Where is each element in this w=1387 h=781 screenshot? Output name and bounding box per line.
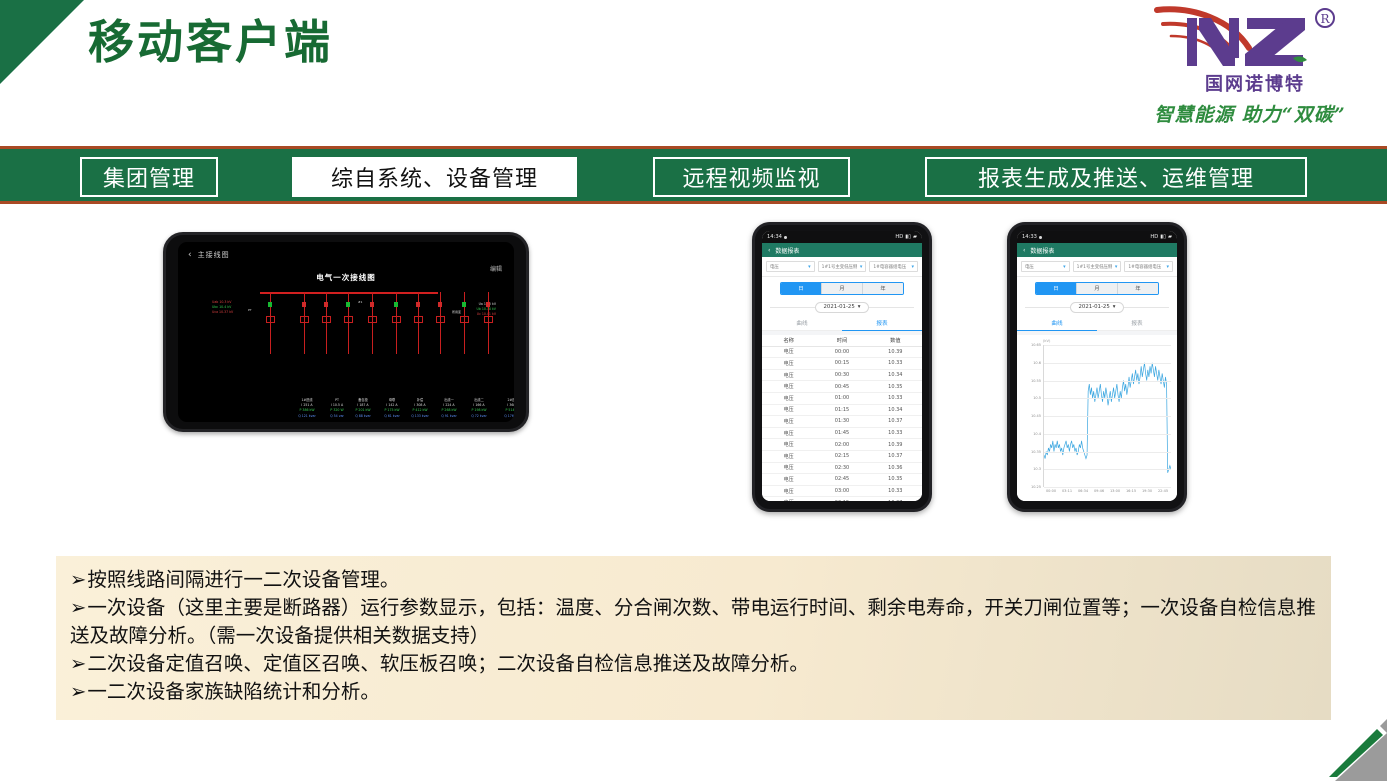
table-row[interactable]: 电压00:1510.33 <box>762 358 922 370</box>
filter-select-metric[interactable]: 电压 ▾ <box>1021 261 1070 272</box>
status-dot-icon <box>784 236 787 239</box>
chart-plot-area <box>1043 345 1171 487</box>
status-time: 14:34 <box>767 234 782 240</box>
grid-line <box>1044 416 1171 417</box>
cell-value: 10.34 <box>869 407 922 413</box>
bay-column: 补偿 I 308 A P 412 kW Q 133 kvar <box>408 398 432 419</box>
filter-select-station[interactable]: 1#1号主变低压侧 ▾ <box>818 261 867 272</box>
bullet-marker-icon: ➢ <box>70 568 86 591</box>
bay-value-q: Q 91 kvar <box>436 414 462 419</box>
logo-mark-icon: R <box>1153 4 1353 76</box>
tablet-device: ‹ 主接线图 编辑 电气一次接线图 Uab 10.3 kV Ubc 10.4 k… <box>163 232 529 432</box>
filter-row: 电压 ▾ 1#1号主变低压侧 ▾ 1#电容器组电压 ▾ <box>762 257 922 277</box>
phone-device-report-table: 14:34 HD ▮▯ ▰ ‹ 数据报表 电压 ▾ <box>752 222 932 512</box>
table-row[interactable]: 电压00:0010.39 <box>762 347 922 359</box>
status-network-label: HD <box>895 234 903 240</box>
table-row[interactable]: 电压02:4510.35 <box>762 474 922 486</box>
period-segmented-control: 日 月 年 <box>1035 282 1159 295</box>
cell-name: 电压 <box>762 372 815 379</box>
bay-value-q: Q 133 kvar <box>408 414 432 419</box>
transformer-symbol <box>322 316 331 323</box>
bay-value-q: Q 72 kvar <box>466 414 492 419</box>
transformer-symbol <box>392 316 401 323</box>
segment-year[interactable]: 年 <box>863 283 903 294</box>
filter-select-point[interactable]: 1#电容器组电压 ▾ <box>869 261 918 272</box>
cell-value: 10.39 <box>869 442 922 448</box>
x-axis-tick-label: 03:11 <box>1062 489 1072 493</box>
bullet-marker-icon: ➢ <box>70 596 86 619</box>
cell-name: 电压 <box>762 488 815 495</box>
phone-screen-chart: 14:33 HD ▮▯ ▰ ‹ 数据报表 电压 ▾ <box>1017 231 1177 501</box>
table-row[interactable]: 电压01:3010.37 <box>762 416 922 428</box>
busbar-line <box>260 292 438 294</box>
view-tabs: 曲线 报表 <box>762 315 922 331</box>
cell-value: 10.37 <box>869 418 922 424</box>
filter-select-point[interactable]: 1#电容器组电压 ▾ <box>1124 261 1173 272</box>
segment-year[interactable]: 年 <box>1118 283 1158 294</box>
breaker-open-indicator <box>416 302 420 307</box>
table-row[interactable]: 电压00:4510.35 <box>762 381 922 393</box>
grid-line <box>1044 381 1171 382</box>
breaker-closed-indicator <box>462 302 466 307</box>
table-row[interactable]: 电压01:4510.33 <box>762 428 922 440</box>
column-header-value: 数值 <box>869 337 922 344</box>
filter-select-station[interactable]: 1#1号主变低压侧 ▾ <box>1073 261 1122 272</box>
chevron-down-icon: ▾ <box>912 264 915 270</box>
period-segmented-control: 日 月 年 <box>780 282 904 295</box>
grid-line <box>1044 345 1171 346</box>
table-row[interactable]: 电压03:1510.37 <box>762 497 922 501</box>
chevron-down-icon: ▾ <box>1063 264 1066 270</box>
bay-tag: #1 <box>358 300 362 304</box>
segment-month[interactable]: 月 <box>1077 283 1118 294</box>
chevron-down-icon: ▾ <box>808 264 811 270</box>
view-tabs: 曲线 报表 <box>1017 315 1177 331</box>
cell-value: 10.34 <box>869 372 922 378</box>
nav-item-group-management[interactable]: 集团管理 <box>80 157 218 197</box>
cell-value: 10.37 <box>869 500 922 501</box>
date-row: 2021-01-25 ▾ <box>762 299 922 315</box>
cell-time: 02:45 <box>815 476 868 482</box>
bay-value-q: Q 54 var <box>326 414 348 419</box>
grid-line <box>1044 469 1171 470</box>
voltage-trend-chart[interactable]: (kV) 10.2510.310.3510.410.4510.510.5510.… <box>1017 335 1177 501</box>
filter-label: 1#电容器组电压 <box>873 264 906 270</box>
cell-name: 电压 <box>762 360 815 367</box>
bullet-text-4: 一二次设备家族缺陷统计和分析。 <box>87 680 380 703</box>
corner-stripe-decoration <box>1301 719 1387 781</box>
x-axis-tick-label: 13:00 <box>1110 489 1120 493</box>
table-row[interactable]: 电压03:0010.33 <box>762 486 922 498</box>
app-bar: ‹ 数据报表 <box>1017 243 1177 257</box>
y-axis-tick-label: 10.4 <box>1033 432 1041 436</box>
table-row[interactable]: 电压02:0010.39 <box>762 439 922 451</box>
bullet-text-2: 一次设备（这里主要是断路器）运行参数显示，包括：温度、分合闸次数、带电运行时间、… <box>70 596 1316 647</box>
x-axis-tick-label: 09:46 <box>1094 489 1104 493</box>
cell-time: 03:00 <box>815 488 868 494</box>
cell-time: 00:00 <box>815 349 868 355</box>
x-axis-tick-label: 00:00 <box>1046 489 1056 493</box>
date-value: 2021-01-25 <box>1078 304 1109 310</box>
cell-name: 电压 <box>762 499 815 501</box>
chevron-left-icon: ‹ <box>188 250 193 260</box>
transformer-symbol <box>300 316 309 323</box>
bullet-marker-icon: ➢ <box>70 680 86 703</box>
signal-icon: ▮▯ <box>1160 234 1166 240</box>
cell-name: 电压 <box>762 418 815 425</box>
period-segment-wrap: 日 月 年 <box>1017 277 1177 299</box>
nav-band: 集团管理 综自系统、设备管理 远程视频监视 报表生成及推送、运维管理 <box>0 146 1387 204</box>
transformer-symbol <box>436 316 445 323</box>
y-axis-tick-label: 10.25 <box>1031 485 1041 489</box>
single-line-diagram: Uab 10.3 kV Ubc 10.4 kV Uca 10.37 kV Ua … <box>212 286 496 366</box>
battery-icon: ▰ <box>1168 234 1172 240</box>
nav-item-remote-video[interactable]: 远程视频监视 <box>653 157 850 197</box>
signal-icon: ▮▯ <box>905 234 911 240</box>
y-axis-tick-label: 10.6 <box>1033 361 1041 365</box>
tablet-back-label: 主接线图 <box>198 250 230 260</box>
data-table[interactable]: 名称 时间 数值 电压00:0010.39电压00:1510.33电压00:30… <box>762 335 922 501</box>
breaker-open-indicator <box>486 302 490 307</box>
table-row[interactable]: 电压01:0010.33 <box>762 393 922 405</box>
chevron-down-icon: ▾ <box>860 264 863 270</box>
table-header-row: 名称 时间 数值 <box>762 335 922 347</box>
bay-tag: 所用变 <box>452 310 461 314</box>
y-axis-tick-label: 10.3 <box>1033 467 1041 471</box>
grid-line <box>1044 452 1171 453</box>
bullet-line-4: ➢一二次设备家族缺陷统计和分析。 <box>70 678 1317 706</box>
x-axis-ticks: 00:0003:1106:3409:4613:0016:1519:3022:45 <box>1043 487 1171 499</box>
chart-unit-label: (kV) <box>1043 339 1050 343</box>
cell-name: 电压 <box>762 383 815 390</box>
cell-value: 10.35 <box>869 476 922 482</box>
cell-name: 电压 <box>762 406 815 413</box>
breaker-closed-indicator <box>268 302 272 307</box>
cell-value: 10.33 <box>869 488 922 494</box>
transformer-symbol <box>414 316 423 323</box>
bay-column: 出线二 I 166 A P 198 kW Q 72 kvar <box>466 398 492 419</box>
phone-screen-table: 14:34 HD ▮▯ ▰ ‹ 数据报表 电压 ▾ <box>762 231 922 501</box>
filter-select-metric[interactable]: 电压 ▾ <box>766 261 815 272</box>
cell-value: 10.37 <box>869 453 922 459</box>
bay-column: 1#进线 I 251 A P 386 kW Q 121 kvar <box>292 398 322 419</box>
breaker-open-indicator <box>302 302 306 307</box>
breaker-open-indicator <box>438 302 442 307</box>
cell-value: 10.36 <box>869 465 922 471</box>
period-segment-wrap: 日 月 年 <box>762 277 922 299</box>
bay-value-q: Q 88 kvar <box>350 414 376 419</box>
x-axis-tick-label: 06:34 <box>1078 489 1088 493</box>
status-dot-icon <box>1039 236 1042 239</box>
breaker-open-indicator <box>370 302 374 307</box>
cell-value: 10.33 <box>869 430 922 436</box>
chevron-left-icon[interactable]: ‹ <box>1023 247 1025 254</box>
bay-column: 2#进线 I 368 A P 514 kW Q 176 kvar <box>498 398 514 419</box>
cell-time: 01:30 <box>815 418 868 424</box>
transformer-symbol <box>266 316 275 323</box>
grid-line <box>1044 398 1171 399</box>
status-bar: 14:33 HD ▮▯ ▰ <box>1017 231 1177 243</box>
cell-value: 10.39 <box>869 349 922 355</box>
phone-device-report-chart: 14:33 HD ▮▯ ▰ ‹ 数据报表 电压 ▾ <box>1007 222 1187 512</box>
measurement-uca: Uca 10.37 kV <box>212 310 233 315</box>
cell-name: 电压 <box>762 476 815 483</box>
bay-column: PT I 10.5 A P 320 W Q 54 var <box>326 398 348 419</box>
cell-name: 电压 <box>762 464 815 471</box>
app-bar-title: 数据报表 <box>775 246 799 255</box>
bay-tag: PT <box>248 308 252 312</box>
status-bar: 14:34 HD ▮▯ ▰ <box>762 231 922 243</box>
cell-name: 电压 <box>762 441 815 448</box>
nav-item-system-device-management[interactable]: 综自系统、设备管理 <box>292 157 577 197</box>
table-row[interactable]: 电压02:3010.36 <box>762 463 922 475</box>
cell-time: 01:00 <box>815 395 868 401</box>
filter-label: 1#1号主变低压侧 <box>1077 264 1113 270</box>
cell-time: 02:30 <box>815 465 868 471</box>
column-header-time: 时间 <box>815 337 868 344</box>
app-bar: ‹ 数据报表 <box>762 243 922 257</box>
slide-root: 移动客户端 R 国网诺博特 智慧能源 助力“双碳” 集团管理 <box>0 0 1387 781</box>
device-gallery: ‹ 主接线图 编辑 电气一次接线图 Uab 10.3 kV Ubc 10.4 k… <box>0 206 1387 536</box>
tablet-back-control[interactable]: ‹ 主接线图 <box>188 250 230 260</box>
tab-curve[interactable]: 曲线 <box>1017 315 1097 331</box>
bullet-text-1: 按照线路间隔进行一二次设备管理。 <box>87 568 399 591</box>
cell-time: 00:45 <box>815 384 868 390</box>
bay-column: 母联 I 142 A P 175 kW Q 61 kvar <box>380 398 404 419</box>
tab-report[interactable]: 报表 <box>842 315 922 331</box>
table-row[interactable]: 电压00:3010.34 <box>762 370 922 382</box>
left-measurement-block: Uab 10.3 kV Ubc 10.4 kV Uca 10.37 kV <box>212 300 233 315</box>
grid-line <box>1044 363 1171 364</box>
y-axis-tick-label: 10.45 <box>1031 414 1041 418</box>
filter-label: 1#电容器组电压 <box>1128 264 1161 270</box>
segment-day[interactable]: 日 <box>1036 283 1077 294</box>
segment-month[interactable]: 月 <box>822 283 863 294</box>
chevron-down-icon: ▾ <box>1113 304 1116 310</box>
nav-item-report-ops[interactable]: 报表生成及推送、运维管理 <box>925 157 1307 197</box>
grid-line <box>1044 434 1171 435</box>
cell-time: 00:30 <box>815 372 868 378</box>
y-axis-tick-label: 10.65 <box>1031 343 1041 347</box>
column-header-name: 名称 <box>762 337 815 344</box>
battery-icon: ▰ <box>913 234 917 240</box>
breaker-open-indicator <box>324 302 328 307</box>
breaker-closed-indicator <box>346 302 350 307</box>
logo-slogan: 智慧能源 助力“双碳” <box>1125 100 1375 127</box>
y-axis-ticks: 10.2510.310.3510.410.4510.510.5510.610.6… <box>1021 345 1043 487</box>
company-logo: R 国网诺博特 智慧能源 助力“双碳” <box>1125 4 1375 132</box>
y-axis-tick-label: 10.35 <box>1031 450 1041 454</box>
table-row[interactable]: 电压02:1510.37 <box>762 451 922 463</box>
filter-label: 电压 <box>1025 264 1034 270</box>
bullet-marker-icon: ➢ <box>70 652 86 675</box>
cell-name: 电压 <box>762 348 815 355</box>
svg-text:R: R <box>1320 12 1330 26</box>
app-bar-title: 数据报表 <box>1030 246 1054 255</box>
bay-column: 备自投 I 187 A P 201 kW Q 88 kvar <box>350 398 376 419</box>
transformer-symbol <box>484 316 493 323</box>
x-axis-tick-label: 19:30 <box>1142 489 1152 493</box>
bay-value-q: Q 121 kvar <box>292 414 322 419</box>
corner-triangle-decoration <box>0 0 84 84</box>
tablet-diagram-title: 电气一次接线图 <box>178 272 514 283</box>
cell-time: 00:15 <box>815 360 868 366</box>
transformer-symbol <box>344 316 353 323</box>
logo-company-name: 国网诺博特 <box>1165 70 1345 96</box>
date-picker[interactable]: 2021-01-25 ▾ <box>815 302 868 313</box>
tab-curve[interactable]: 曲线 <box>762 315 842 331</box>
date-row: 2021-01-25 ▾ <box>1017 299 1177 315</box>
chevron-down-icon: ▾ <box>1115 264 1118 270</box>
chevron-down-icon: ▾ <box>1167 264 1170 270</box>
cell-time: 02:15 <box>815 453 868 459</box>
cell-name: 电压 <box>762 453 815 460</box>
page-title: 移动客户端 <box>88 10 333 74</box>
x-axis-tick-label: 22:45 <box>1158 489 1168 493</box>
tab-report[interactable]: 报表 <box>1097 315 1177 331</box>
bullet-line-1: ➢按照线路间隔进行一二次设备管理。 <box>70 566 1317 594</box>
cell-value: 10.35 <box>869 384 922 390</box>
y-axis-tick-label: 10.55 <box>1031 379 1041 383</box>
cell-name: 电压 <box>762 395 815 402</box>
filter-label: 1#1号主变低压侧 <box>822 264 858 270</box>
cell-time: 01:45 <box>815 430 868 436</box>
cell-value: 10.33 <box>869 360 922 366</box>
table-row[interactable]: 电压01:1510.34 <box>762 405 922 417</box>
filter-row: 电压 ▾ 1#1号主变低压侧 ▾ 1#电容器组电压 ▾ <box>1017 257 1177 277</box>
x-axis-tick-label: 16:15 <box>1126 489 1136 493</box>
y-axis-tick-label: 10.5 <box>1033 396 1041 400</box>
status-network-label: HD <box>1150 234 1158 240</box>
chevron-down-icon: ▾ <box>858 304 861 310</box>
cell-time: 03:15 <box>815 500 868 501</box>
cell-name: 电压 <box>762 430 815 437</box>
bullet-text-3: 二次设备定值召唤、定值区召唤、软压板召唤；二次设备自检信息推送及故障分析。 <box>87 652 809 675</box>
date-value: 2021-01-25 <box>823 304 854 310</box>
bullet-line-2: ➢一次设备（这里主要是断路器）运行参数显示，包括：温度、分合闸次数、带电运行时间… <box>70 594 1317 650</box>
status-time: 14:33 <box>1022 234 1037 240</box>
transformer-symbol <box>368 316 377 323</box>
filter-label: 电压 <box>770 264 779 270</box>
bay-value-q: Q 61 kvar <box>380 414 404 419</box>
bullet-panel: ➢按照线路间隔进行一二次设备管理。 ➢一次设备（这里主要是断路器）运行参数显示，… <box>56 556 1331 720</box>
tablet-screen: ‹ 主接线图 编辑 电气一次接线图 Uab 10.3 kV Ubc 10.4 k… <box>178 242 514 422</box>
cell-time: 01:15 <box>815 407 868 413</box>
date-picker[interactable]: 2021-01-25 ▾ <box>1070 302 1123 313</box>
cell-value: 10.33 <box>869 395 922 401</box>
cell-time: 02:00 <box>815 442 868 448</box>
bay-value-q: Q 176 kvar <box>498 414 514 419</box>
segment-day[interactable]: 日 <box>781 283 822 294</box>
chevron-left-icon[interactable]: ‹ <box>768 247 770 254</box>
bay-column: 出线一 I 224 A P 268 kW Q 91 kvar <box>436 398 462 419</box>
transformer-symbol <box>460 316 469 323</box>
bullet-line-3: ➢二次设备定值召唤、定值区召唤、软压板召唤；二次设备自检信息推送及故障分析。 <box>70 650 1317 678</box>
breaker-closed-indicator <box>394 302 398 307</box>
